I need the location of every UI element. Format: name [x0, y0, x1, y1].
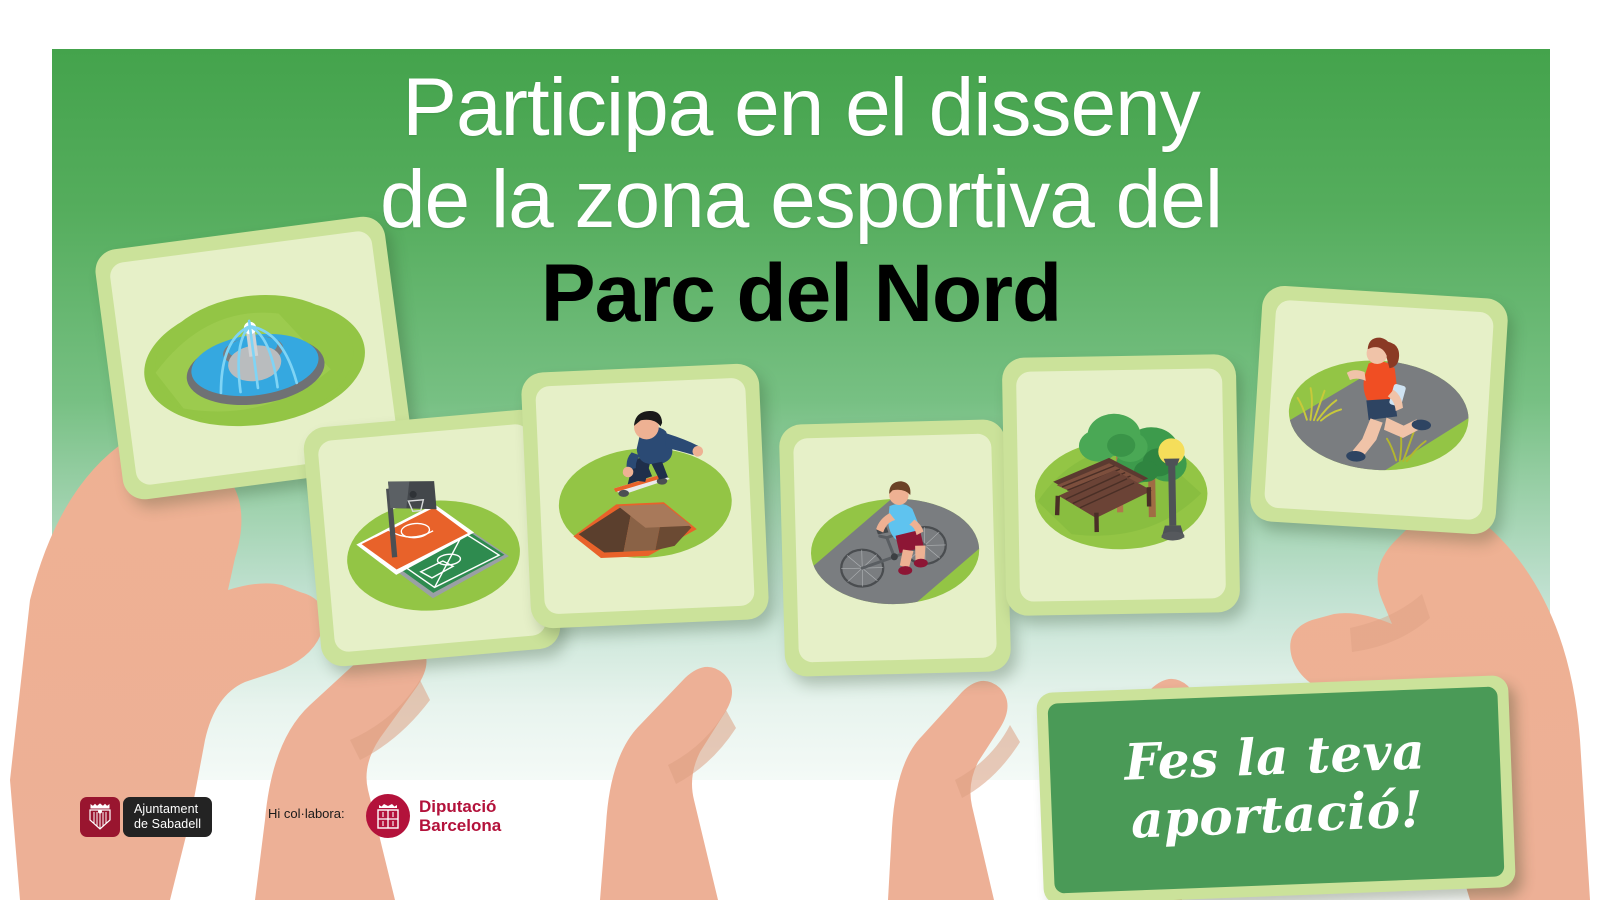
bicycle-icon: [793, 433, 997, 662]
collaborator-label: Hi col·labora:: [268, 806, 345, 821]
diputacio-crest-glyph: [374, 801, 402, 831]
bench-tree-icon: [1016, 368, 1226, 602]
poster-canvas: Participa en el disseny de la zona espor…: [0, 0, 1600, 900]
card-runner[interactable]: [1249, 285, 1509, 536]
sabadell-shield-icon: [80, 797, 120, 837]
ajuntament-line-1: Ajuntament: [134, 802, 201, 817]
card-bench[interactable]: [1002, 354, 1240, 616]
diputacio-logo[interactable]: Diputació Barcelona: [366, 794, 501, 838]
card-bike-inner: [793, 433, 997, 662]
card-runner-inner: [1264, 300, 1494, 521]
card-bike[interactable]: [779, 419, 1012, 677]
card-skate-inner: [535, 378, 755, 615]
diputacio-name: Diputació Barcelona: [419, 797, 501, 835]
diputacio-crest-icon: [366, 794, 410, 838]
diputacio-line-2: Barcelona: [419, 816, 501, 835]
footer-logos: Ajuntament de Sabadell Hi col·labora: Di…: [0, 780, 1600, 900]
skatepark-icon: [535, 378, 755, 615]
card-sportcourt-inner: [317, 423, 547, 653]
sports-court-icon: [317, 423, 547, 653]
runner-icon: [1264, 300, 1494, 521]
card-bench-inner: [1016, 368, 1226, 602]
diputacio-line-1: Diputació: [419, 797, 501, 816]
ajuntament-logo[interactable]: Ajuntament de Sabadell: [80, 797, 212, 837]
shield-glyph: [87, 802, 113, 832]
ajuntament-line-2: de Sabadell: [134, 817, 201, 832]
card-skate[interactable]: [521, 363, 770, 629]
ajuntament-name-box: Ajuntament de Sabadell: [123, 797, 212, 837]
